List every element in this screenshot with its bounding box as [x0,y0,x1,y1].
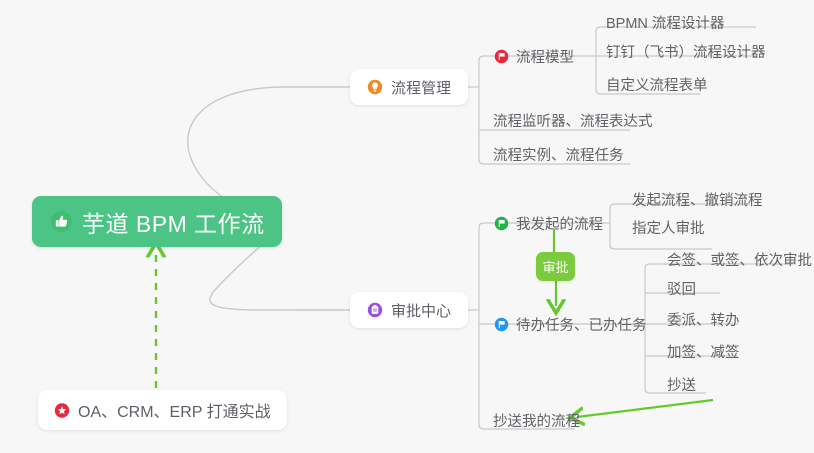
flag-icon [494,216,509,231]
leaf-cc[interactable]: 抄送 [657,374,706,400]
leaf-label: 委派、转办 [667,313,740,329]
flag-icon [494,317,509,332]
node-process-model[interactable]: 流程模型 [490,41,582,71]
thumbs-up-icon [50,210,73,233]
leaf-bpmn-designer[interactable]: BPMN 流程设计器 [596,12,734,38]
leaf-delegate-transfer[interactable]: 委派、转办 [657,309,750,335]
node-oa-crm-erp[interactable]: OA、CRM、ERP 打通实战 [38,390,287,430]
branch-label: 流程管理 [391,77,451,98]
leaf-assignee-approval[interactable]: 指定人审批 [622,217,715,243]
leaf-label: 抄送 [667,378,696,394]
root-node[interactable]: 芋道 BPM 工作流 [32,196,282,247]
leaf-cc-to-me[interactable]: 抄送我的流程 [483,410,590,436]
approve-badge-label: 审批 [542,257,568,276]
node-label: 我发起的流程 [516,213,603,234]
leaf-label: 发起流程、撤销流程 [632,193,763,209]
leaf-label: BPMN 流程设计器 [606,16,724,32]
clipboard-icon [367,302,383,318]
mindmap-canvas: 芋道 BPM 工作流 流程管理 流程模型 BPMN 流程设计器 钉钉（飞书）流程 [0,0,814,453]
root-label: 芋道 BPM 工作流 [82,205,265,239]
leaf-dingtalk-designer[interactable]: 钉钉（飞书）流程设计器 [596,41,776,67]
lightbulb-icon [367,79,383,95]
node-label: 流程模型 [516,46,574,67]
leaf-label: 抄送我的流程 [493,414,580,430]
leaf-label: 加签、减签 [667,345,740,361]
node-label: 待办任务、已办任务 [516,314,647,335]
node-my-started-process[interactable]: 我发起的流程 [490,208,611,238]
leaf-label: 驳回 [667,282,696,298]
leaf-start-cancel-process[interactable]: 发起流程、撤销流程 [622,189,773,215]
branch-label: 审批中心 [391,300,451,321]
approve-badge[interactable]: 审批 [536,252,575,281]
leaf-custom-form[interactable]: 自定义流程表单 [596,74,718,100]
leaf-process-listener[interactable]: 流程监听器、流程表达式 [483,110,663,136]
leaf-label: 会签、或签、依次审批 [667,253,812,269]
leaf-add-remove-sign[interactable]: 加签、减签 [657,341,750,367]
leaf-label: 流程实例、流程任务 [493,148,624,164]
node-label: OA、CRM、ERP 打通实战 [78,398,271,422]
leaf-label: 流程监听器、流程表达式 [493,114,653,130]
branch-process-management[interactable]: 流程管理 [350,69,468,105]
leaf-countersign[interactable]: 会签、或签、依次审批 [657,249,814,275]
leaf-label: 自定义流程表单 [606,78,708,94]
star-icon [54,402,70,418]
leaf-process-instance[interactable]: 流程实例、流程任务 [483,144,634,170]
node-todo-done-tasks[interactable]: 待办任务、已办任务 [490,309,655,339]
leaf-label: 钉钉（飞书）流程设计器 [606,45,766,61]
leaf-reject[interactable]: 驳回 [657,278,706,304]
flag-icon [494,49,509,64]
branch-approval-center[interactable]: 审批中心 [350,292,468,328]
leaf-label: 指定人审批 [632,221,705,237]
